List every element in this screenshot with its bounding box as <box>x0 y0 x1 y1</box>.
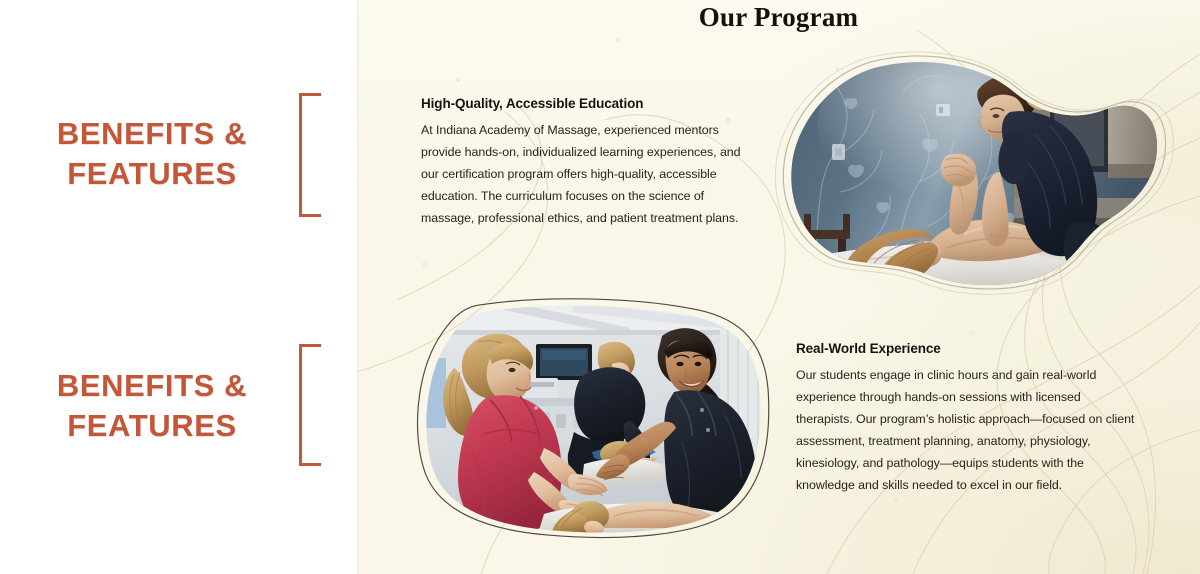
section-heading-1: High-Quality, Accessible Education <box>421 96 741 111</box>
bracket-decoration-2 <box>299 344 321 466</box>
section-image-2 <box>424 302 764 534</box>
section-text-block-1: High-Quality, Accessible Education At In… <box>421 96 741 229</box>
page-title: Our Program <box>357 2 1200 33</box>
section-label-line-1: BENEFITS & <box>22 114 282 154</box>
section-label-line-1: BENEFITS & <box>22 366 282 406</box>
slide-canvas: Our Program BENEFITS & FEATURES BENEFITS… <box>0 0 1200 574</box>
section-text-block-2: Real-World Experience Our students engag… <box>796 341 1136 496</box>
student-clinic-photo-blob <box>424 302 764 534</box>
blob-2-photo-content <box>424 302 764 537</box>
section-label-benefits-features-2: BENEFITS & FEATURES <box>22 366 282 445</box>
section-label-benefits-features-1: BENEFITS & FEATURES <box>22 114 282 193</box>
bracket-decoration-1 <box>299 93 321 217</box>
section-body-1: At Indiana Academy of Massage, experienc… <box>421 119 741 229</box>
section-label-line-2: FEATURES <box>22 154 282 194</box>
section-image-1 <box>778 52 1160 292</box>
section-heading-2: Real-World Experience <box>796 341 1136 356</box>
section-body-2: Our students engage in clinic hours and … <box>796 364 1136 496</box>
massage-therapy-photo-blob <box>778 52 1160 292</box>
section-label-line-2: FEATURES <box>22 406 282 446</box>
